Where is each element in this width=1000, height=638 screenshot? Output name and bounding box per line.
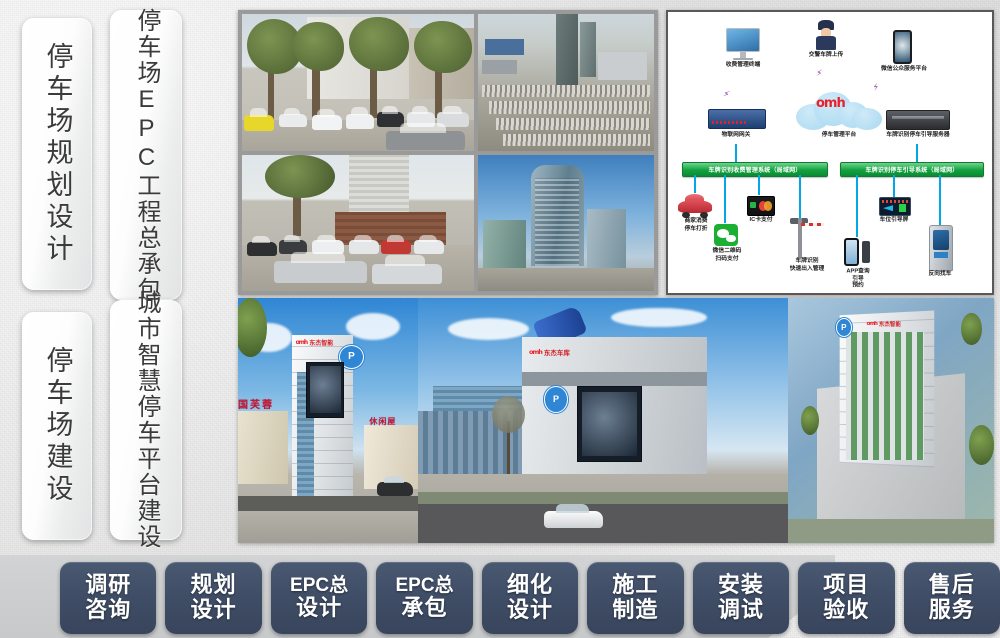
photo-street-parking — [242, 14, 474, 151]
render-tower-parking: omh 东杰智能 P 国芙蓉 休闲屋 — [238, 298, 418, 543]
red-car-icon — [678, 194, 712, 218]
process-step-after-sales[interactable]: 售后 服务 — [904, 562, 1000, 634]
connector-line — [735, 144, 737, 162]
node-label-wechat-platform: 微信公众服务平台 — [870, 66, 937, 73]
cloud-platform-label: 停车管理平台 — [792, 132, 886, 139]
sidebar-card-smart-platform[interactable]: 城市智慧停车平台建设 — [110, 300, 182, 540]
parking-system-diagram: ⚡ ⚡ ⚡ ⚡ omh 停车管理平台 收费管理终端 交警车牌上传 微信公众服务平… — [666, 10, 994, 295]
item-label-guide-screen: 车位引导屏 — [871, 217, 917, 224]
process-step-installation[interactable]: 安装 调试 — [693, 562, 789, 634]
process-step-acceptance[interactable]: 项目 验收 — [798, 562, 894, 634]
process-step-epc-contract[interactable]: EPC总 承包 — [376, 562, 472, 634]
photo-aerial-parking — [478, 14, 654, 151]
connector-line — [893, 175, 895, 197]
barrier-gate-icon — [784, 218, 826, 258]
sidebar-card-label: 停车场建设 — [44, 346, 71, 506]
sidebar-card-label: 停车场规划设计 — [44, 42, 71, 266]
page-root: 停车场规划设计 停车场EPC工程总承包 停车场建设 城市智慧停车平台建设 — [0, 0, 1000, 638]
app-phone-icon — [844, 238, 870, 266]
render-sign: 休闲屋 — [369, 416, 396, 427]
parking-badge: P — [544, 386, 568, 413]
sidebar-card-parking-planning[interactable]: 停车场规划设计 — [22, 18, 92, 290]
connector-line — [799, 175, 801, 219]
smartphone-icon — [893, 30, 912, 64]
photo-office-tower — [478, 155, 654, 292]
imac-icon — [726, 28, 760, 60]
system-bar-guide: 车牌识别停车引导系统（局域网） — [840, 162, 984, 177]
process-step-detail-design[interactable]: 细化 设计 — [482, 562, 578, 634]
connector-line — [724, 175, 726, 223]
process-step-planning[interactable]: 规划 设计 — [165, 562, 261, 634]
connector-line — [758, 175, 760, 195]
lightning-icon: ⚡ — [815, 68, 822, 80]
connector-line — [694, 175, 696, 193]
rendering-strip: omh 东杰智能 P 国芙蓉 休闲屋 omh 东杰车库 — [238, 298, 994, 543]
photo-lot-brick-building — [242, 155, 474, 292]
render-garage-building: omh 东杰车库 P — [418, 298, 788, 543]
node-label-charge-terminal: 收费管理终端 — [713, 62, 773, 69]
sidebar-card-label: 停车场EPC工程总承包 — [134, 8, 158, 303]
item-label-plate-gate: 车牌识别 快速出入管理 — [777, 258, 837, 272]
omh-logo: omh — [816, 96, 845, 111]
ic-card-icon — [747, 196, 775, 216]
item-label-app-query: APP查询 引导 预约 — [837, 268, 879, 290]
item-label-merchant-discount: 商家消费 停车打折 — [673, 218, 719, 232]
system-bar-charge: 车牌识别收费管理系统（局域网） — [682, 162, 828, 177]
router-icon — [708, 109, 766, 129]
process-step-manufacturing[interactable]: 施工 制造 — [587, 562, 683, 634]
sidebar-card-label: 城市智慧停车平台建设 — [134, 290, 158, 550]
kiosk-icon — [929, 225, 953, 271]
wechat-icon — [714, 224, 738, 246]
parking-badge: P — [836, 318, 852, 337]
sidebar-card-parking-construction[interactable]: 停车场建设 — [22, 312, 92, 540]
render-brand: omh 东杰车库 — [529, 347, 570, 357]
item-label-reverse-find: 反向找车 — [917, 271, 963, 278]
render-brand: omh 东杰智能 — [296, 338, 334, 347]
police-officer-icon — [815, 20, 837, 50]
render-brand: omh 东杰智能 — [866, 320, 900, 328]
node-label-iot-gateway: 物联网网关 — [709, 132, 763, 139]
photo-collage — [238, 10, 658, 295]
connector-line — [939, 175, 941, 225]
node-label-traffic-police: 交警车牌上传 — [795, 52, 856, 59]
process-step-survey[interactable]: 调研 咨询 — [60, 562, 156, 634]
node-label-guide-server: 车牌识别停车引导服务器 — [878, 132, 959, 139]
server-icon — [886, 110, 950, 130]
process-step-list: 调研 咨询 规划 设计 EPC总 设计 EPC总 承包 细化 设计 施工 制造 … — [60, 558, 1000, 638]
connector-line — [856, 175, 858, 237]
lightning-icon: ⚡ — [721, 88, 730, 100]
render-aerial-tower: omh 东杰智能 P — [788, 298, 994, 543]
process-step-epc-design[interactable]: EPC总 设计 — [271, 562, 367, 634]
led-screen-icon — [879, 197, 911, 216]
item-label-ic-card: IC卡支付 — [745, 217, 778, 224]
connector-line — [916, 144, 918, 162]
sidebar-card-epc-contract[interactable]: 停车场EPC工程总承包 — [110, 10, 182, 300]
render-sign: 国芙蓉 — [238, 396, 274, 411]
item-label-wechat-qr: 微信二维码 扫码支付 — [701, 248, 753, 262]
